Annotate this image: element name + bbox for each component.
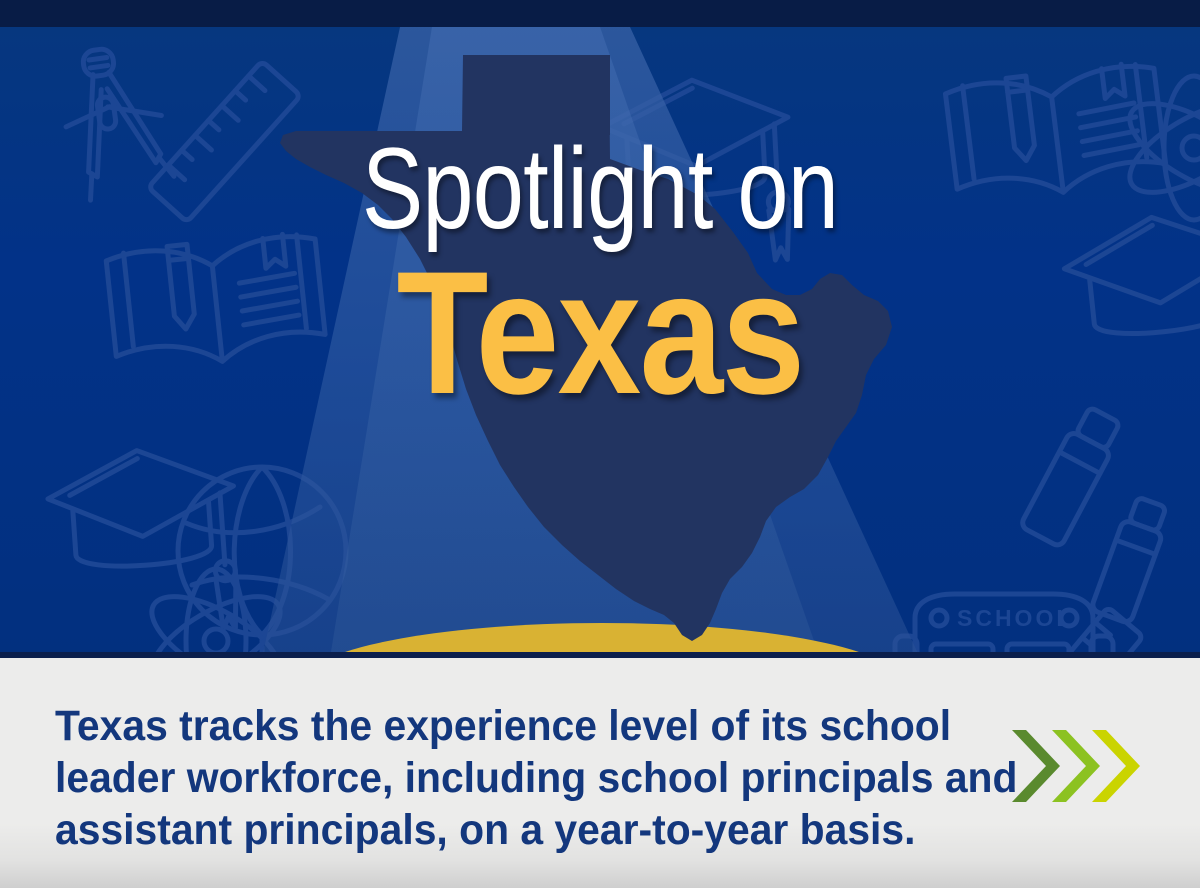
texas-map-silhouette — [0, 27, 1200, 658]
hero-banner: SCHOOL — [0, 27, 1200, 658]
caption-line: leader workforce, including school princ… — [55, 752, 891, 804]
caption-line: assistant principals, on a year-to-year … — [55, 804, 891, 856]
forward-chevrons-icon — [1012, 730, 1142, 802]
chevron-1-icon — [1012, 730, 1060, 802]
top-navy-bar — [0, 0, 1200, 27]
caption-line: Texas tracks the experience level of its… — [55, 700, 891, 752]
caption-paragraph: Texas tracks the experience level of its… — [55, 700, 891, 856]
spotlight-on-texas-card: SCHOOL — [0, 0, 1200, 888]
